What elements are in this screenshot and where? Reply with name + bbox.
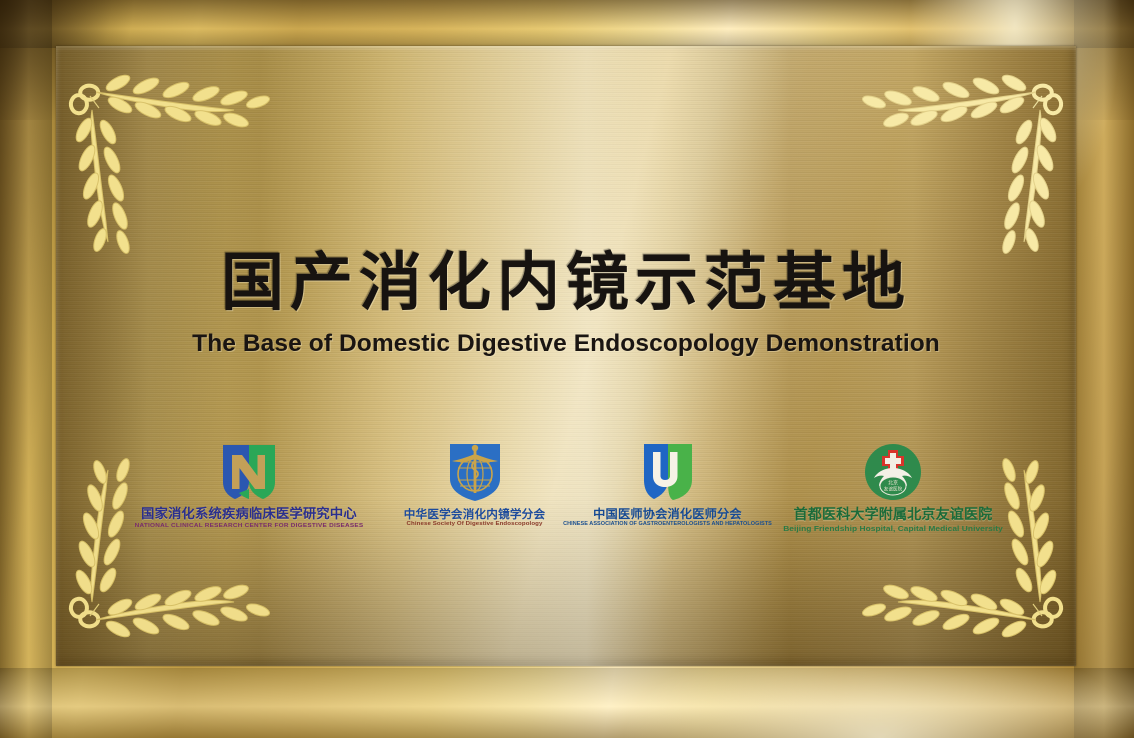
logo-chinese-gastroenterologist-association: 中国医师协会消化医师分会 CHINESE ASSOCIATION OF GAST… bbox=[575, 441, 760, 528]
shield-uj-icon bbox=[642, 441, 694, 503]
logo-label-chinese: 国家消化系统疾病临床医学研究中心 bbox=[141, 508, 357, 522]
logo-label-chinese: 首都医科大学附属北京友谊医院 bbox=[794, 508, 993, 523]
logo-beijing-friendship-hospital: 北京 友谊医院 首都医科大学附属北京友谊医院 Beijing Friendshi… bbox=[778, 441, 1008, 533]
page-subtitle-english: The Base of Domestic Digestive Endoscopo… bbox=[56, 330, 1076, 358]
plaque-inner-plate: 国产消化内镜示范基地 The Base of Domestic Digestiv… bbox=[56, 46, 1076, 666]
page-title-chinese: 国产消化内镜示范基地 bbox=[56, 232, 1076, 323]
logo-label-english: Beijing Friendship Hospital, Capital Med… bbox=[783, 524, 1003, 532]
logo-label-english: CHINESE ASSOCIATION OF GASTROENTEROLOGIS… bbox=[563, 522, 772, 527]
organization-logo-row: 国家消化系统疾病临床医学研究中心 NATIONAL CLINICAL RESEA… bbox=[56, 441, 1076, 561]
svg-text:友谊医院: 友谊医院 bbox=[884, 486, 903, 493]
logo-label-english: Chinese Society Of Digestive Endoscopolo… bbox=[407, 521, 543, 527]
svg-text:北京: 北京 bbox=[888, 480, 898, 487]
logo-national-clinical-research-center: 国家消化系统疾病临床医学研究中心 NATIONAL CLINICAL RESEA… bbox=[124, 441, 374, 530]
logo-label-english: NATIONAL CLINICAL RESEARCH CENTER FOR DI… bbox=[135, 523, 364, 529]
logo-label-chinese: 中华医学会消化内镜学分会 bbox=[404, 508, 546, 520]
circle-doves-cross-icon: 北京 友谊医院 bbox=[863, 441, 923, 503]
award-plaque: 国产消化内镜示范基地 The Base of Domestic Digestiv… bbox=[0, 0, 1134, 738]
logo-chinese-society-digestive-endoscopy: 中华医学会消化内镜学分会 Chinese Society Of Digestiv… bbox=[392, 441, 557, 528]
shield-n-icon bbox=[220, 441, 278, 503]
logo-label-chinese: 中国医师协会消化医师分会 bbox=[593, 508, 742, 521]
shield-caduceus-globe-icon bbox=[447, 441, 503, 503]
